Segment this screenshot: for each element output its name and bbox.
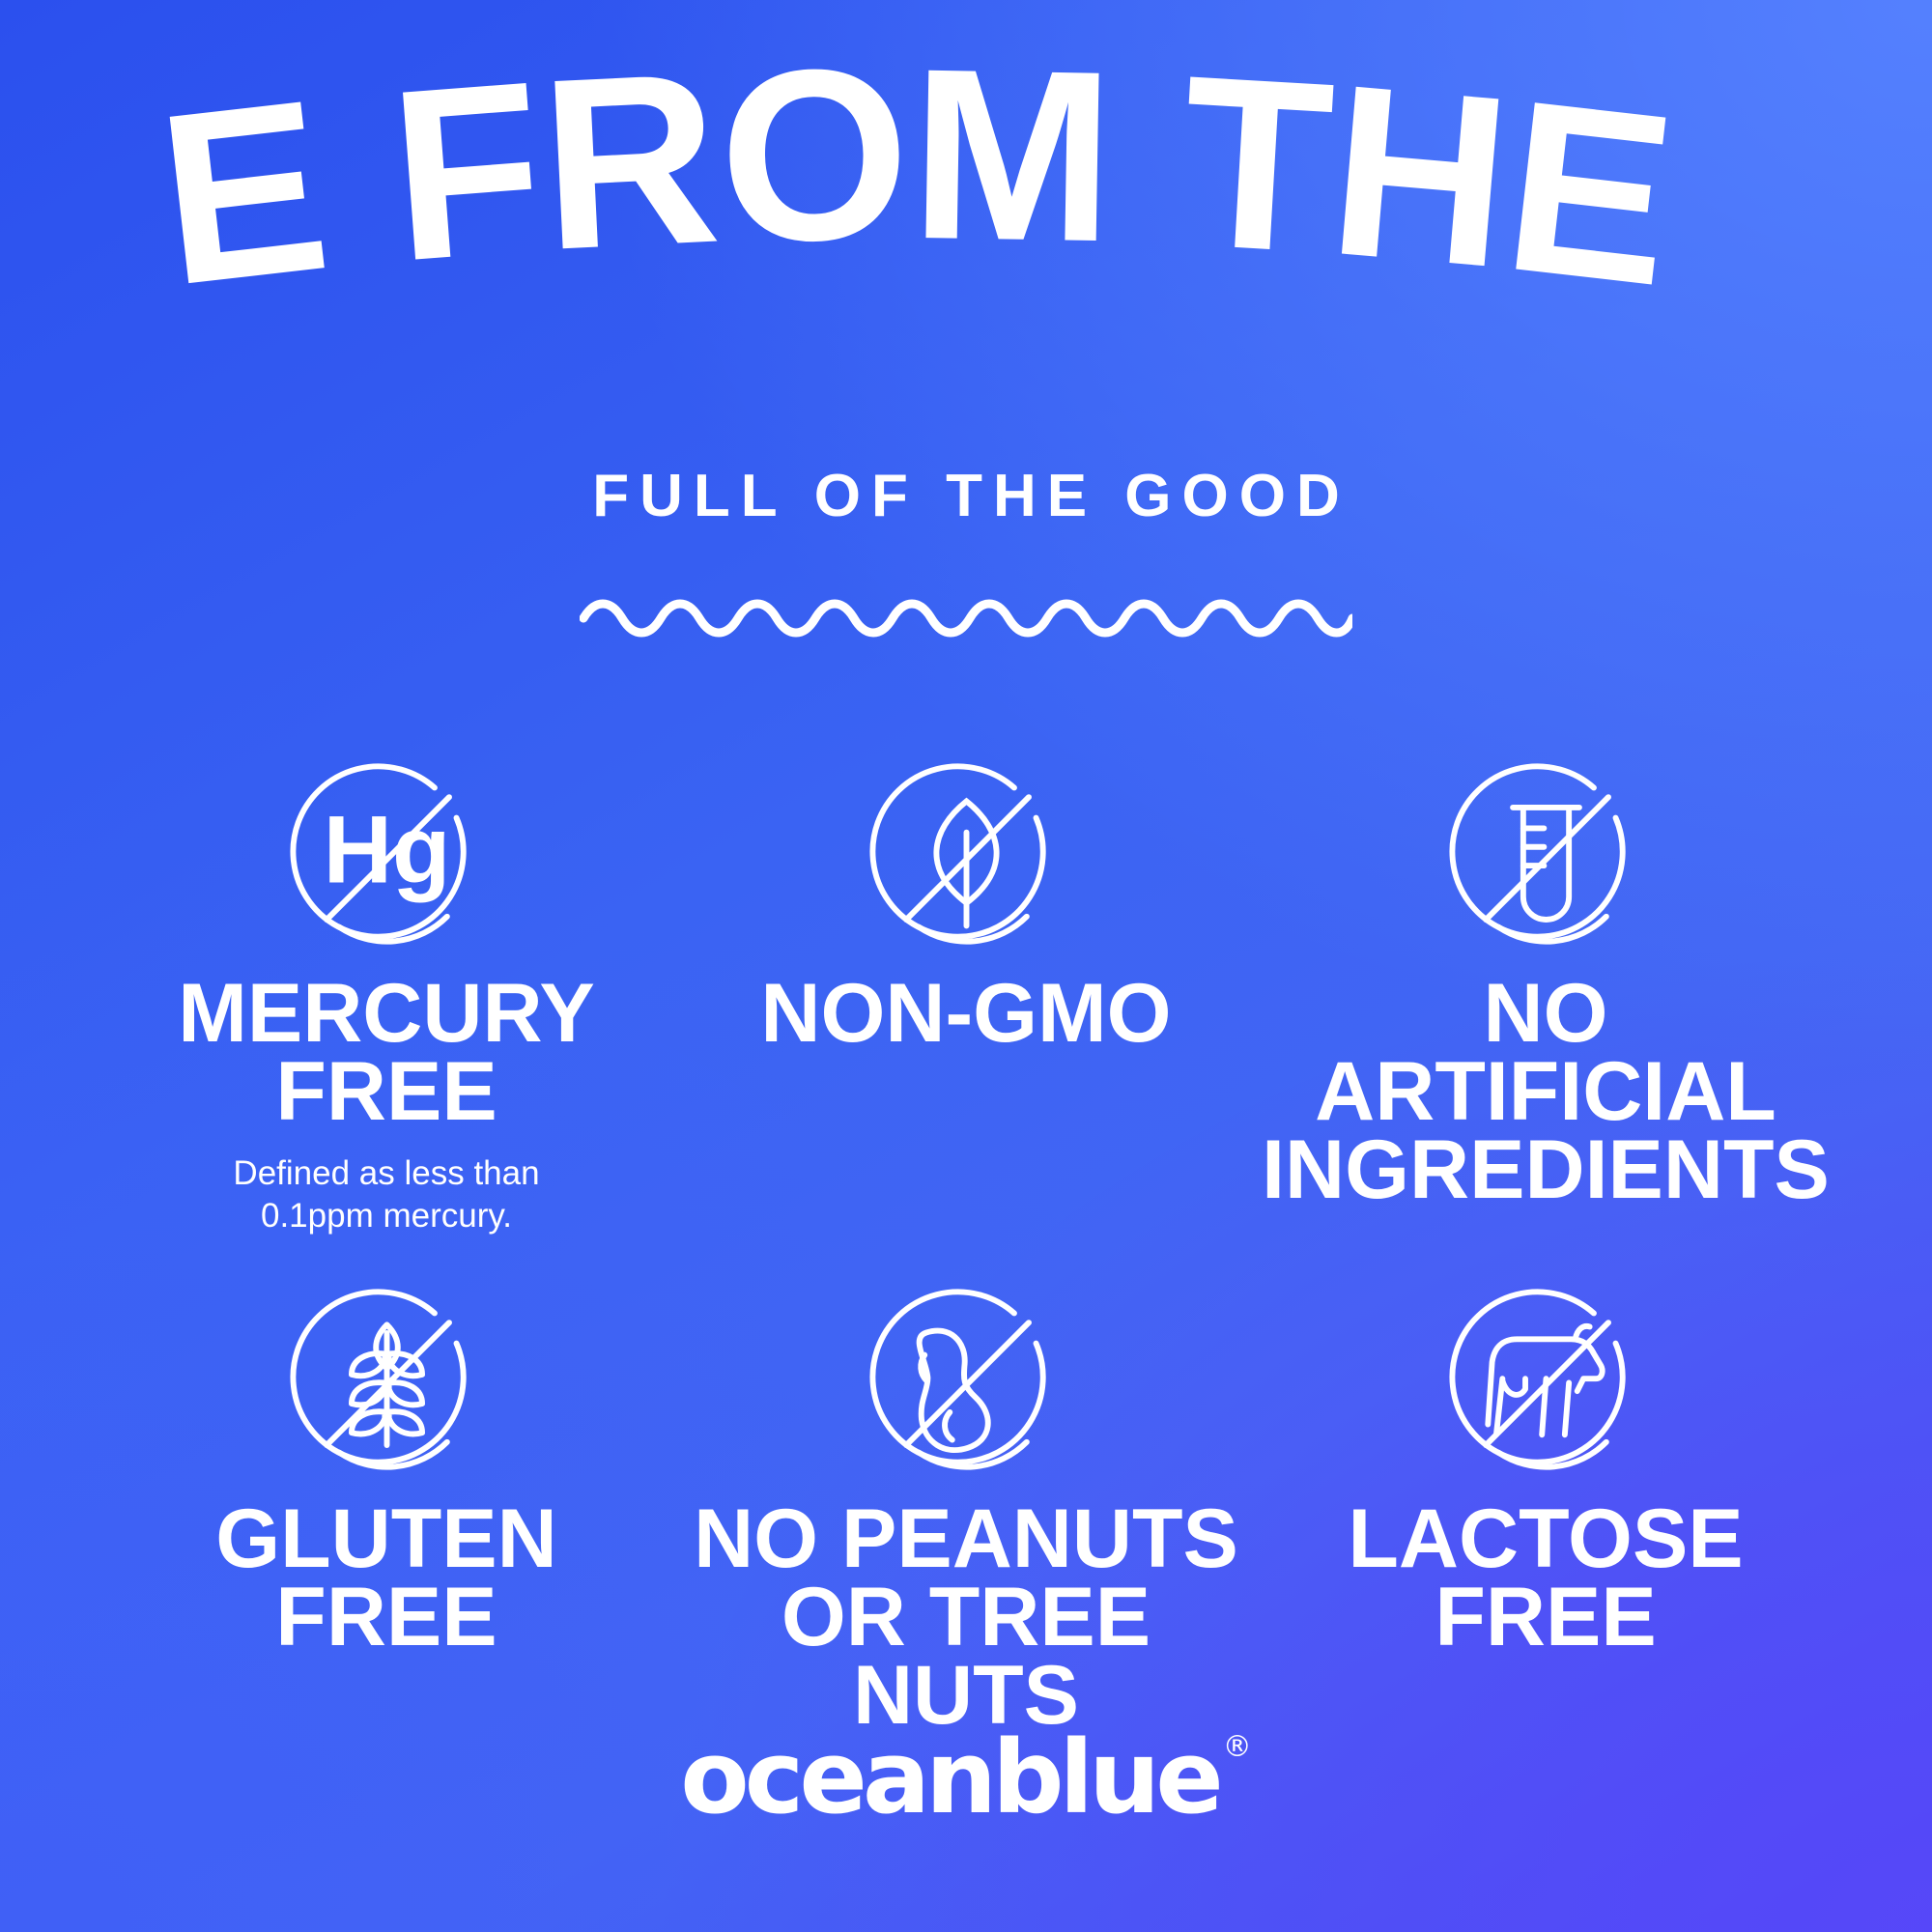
badge-title: NO ARTIFICIAL INGREDIENTS <box>1256 975 1835 1208</box>
headline-svg: FREE FROM THE BAD <box>97 66 1835 355</box>
headline-label: FREE FROM THE BAD <box>97 66 1755 347</box>
badge-title: GLUTEN FREE <box>215 1500 557 1657</box>
no-peanut-icon <box>863 1279 1070 1487</box>
badge-mercury-free: Hg MERCURY FREE Defined as less than 0.1… <box>97 753 676 1238</box>
badge-non-gmo: NON-GMO <box>676 753 1256 1238</box>
badge-note: Defined as less than 0.1ppm mercury. <box>233 1152 539 1239</box>
badge-lactose-free: LACTOSE FREE <box>1256 1279 1835 1755</box>
badge-no-artificial-ingredients: NO ARTIFICIAL INGREDIENTS <box>1256 753 1835 1238</box>
brand-name: oceanblue <box>680 1727 1219 1828</box>
subtitle: FULL OF THE GOOD <box>0 467 1932 526</box>
badge-grid: Hg MERCURY FREE Defined as less than 0.1… <box>97 753 1835 1756</box>
registered-trademark-icon: ® <box>1223 1733 1252 1762</box>
poster-canvas: FREE FROM THE BAD FULL OF THE GOOD Hg <box>0 0 1932 1932</box>
badge-title: LACTOSE FREE <box>1348 1500 1743 1657</box>
headline-container: FREE FROM THE BAD <box>0 75 1932 346</box>
no-mercury-icon: Hg <box>283 753 491 961</box>
wavy-divider-icon <box>580 594 1352 642</box>
no-cow-icon <box>1442 1279 1650 1487</box>
no-gmo-leaf-icon <box>863 753 1070 961</box>
badge-title: NO PEANUTS OR TREE NUTS <box>676 1500 1256 1734</box>
mercury-symbol-label: Hg <box>323 795 450 902</box>
headline-text: FREE FROM THE BAD <box>97 66 1755 347</box>
badge-gluten-free: GLUTEN FREE <box>97 1279 676 1755</box>
badge-title: NON-GMO <box>760 975 1171 1053</box>
no-test-tube-icon <box>1442 753 1650 961</box>
badge-title: MERCURY FREE <box>97 975 676 1131</box>
brand-logo: oceanblue ® <box>0 1727 1932 1828</box>
no-wheat-icon <box>283 1279 491 1487</box>
badge-no-peanuts: NO PEANUTS OR TREE NUTS <box>676 1279 1256 1755</box>
